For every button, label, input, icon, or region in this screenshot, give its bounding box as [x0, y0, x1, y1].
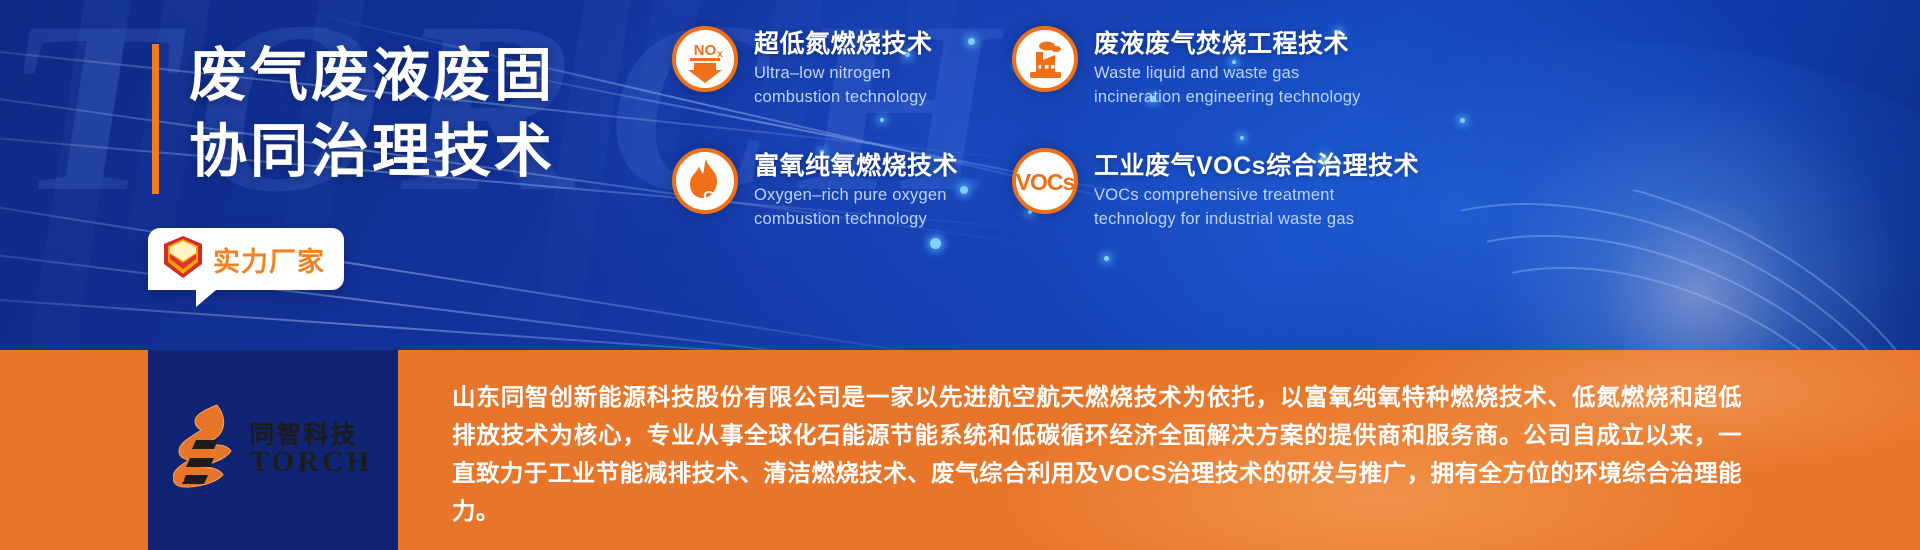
company-description: 山东同智创新能源科技股份有限公司是一家以先进航空航天燃烧技术为依托，以富氧纯氧特…: [452, 378, 1742, 530]
feature-subtitle-line-2: incineration engineering technology: [1094, 87, 1361, 108]
feature-subtitle-line-1: Ultra–low nitrogen: [754, 63, 933, 84]
feature-title: 超低氮燃烧技术: [754, 28, 933, 60]
feature-title: 工业废气VOCs综合治理技术: [1094, 150, 1419, 182]
feature-item-nox[interactable]: NO x 超低氮燃烧技术 Ultra–low nitrogen combusti…: [672, 26, 992, 134]
feature-text: 富氧纯氧燃烧技术 Oxygen–rich pure oxygen combust…: [754, 148, 958, 230]
title-line-1: 废气废液废固: [189, 38, 555, 114]
torch-flame-icon: [173, 400, 243, 500]
strength-manufacturer-badge[interactable]: 实力厂家: [148, 228, 344, 290]
svg-text:VOCs: VOCs: [1016, 169, 1074, 195]
feature-subtitle-line-2: combustion technology: [754, 87, 933, 108]
feature-text: 超低氮燃烧技术 Ultra–low nitrogen combustion te…: [754, 26, 933, 108]
feature-title: 废液废气焚烧工程技术: [1094, 28, 1361, 60]
feature-list: NO x 超低氮燃烧技术 Ultra–low nitrogen combusti…: [672, 26, 1472, 256]
svg-text:NO: NO: [694, 42, 717, 59]
page-title: 废气废液废固 协同治理技术: [189, 38, 555, 194]
feature-subtitle-line-2: combustion technology: [754, 209, 958, 230]
svg-text:2: 2: [717, 196, 723, 207]
feature-subtitle-line-1: Oxygen–rich pure oxygen: [754, 185, 958, 206]
feature-text: 废液废气焚烧工程技术 Waste liquid and waste gas in…: [1094, 26, 1361, 108]
feature-item-incineration[interactable]: 废液废气焚烧工程技术 Waste liquid and waste gas in…: [1012, 26, 1472, 134]
feature-subtitle-line-1: VOCs comprehensive treatment: [1094, 185, 1419, 206]
feature-text: 工业废气VOCs综合治理技术 VOCs comprehensive treatm…: [1094, 148, 1419, 230]
feature-subtitle-line-1: Waste liquid and waste gas: [1094, 63, 1361, 84]
logo-name-en: TORCH: [249, 448, 372, 477]
feature-item-oxygen[interactable]: O 2 富氧纯氧燃烧技术 Oxygen–rich pure oxygen com…: [672, 148, 992, 256]
feature-title: 富氧纯氧燃烧技术: [754, 150, 958, 182]
badge-pointer: [196, 290, 216, 307]
title-line-2: 协同治理技术: [189, 114, 555, 190]
bottom-left-strip: [0, 350, 148, 550]
bottom-bar: 同智科技 TORCH 山东同智创新能源科技股份有限公司是一家以先进航空航天燃烧技…: [0, 350, 1920, 550]
vocs-icon: VOCs: [1012, 148, 1078, 214]
nox-down-arrow-icon: NO x: [672, 26, 738, 92]
hero-title-block: 废气废液废固 协同治理技术: [152, 38, 555, 194]
title-accent-rule: [152, 44, 159, 194]
svg-text:O: O: [703, 188, 715, 205]
badge-label: 实力厂家: [213, 240, 325, 279]
factory-incineration-icon: [1012, 26, 1078, 92]
feature-item-vocs[interactable]: VOCs 工业废气VOCs综合治理技术 VOCs comprehensive t…: [1012, 148, 1472, 256]
promo-banner: TORCH: [0, 0, 1920, 550]
company-logo-panel[interactable]: 同智科技 TORCH: [148, 350, 398, 550]
logo-name-cn: 同智科技: [249, 423, 372, 448]
feature-subtitle-line-2: technology for industrial waste gas: [1094, 209, 1419, 230]
shield-medal-icon: [162, 234, 204, 285]
oxygen-flame-icon: O 2: [672, 148, 738, 214]
